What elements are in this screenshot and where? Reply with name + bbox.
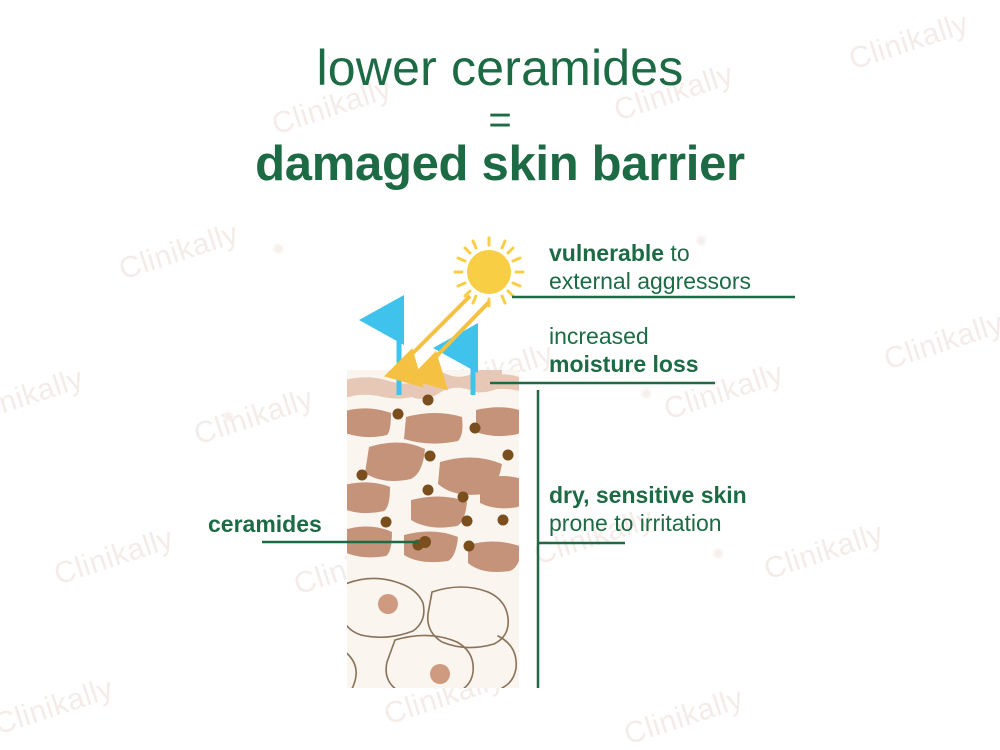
skin-cross-section-diagram [0, 0, 1000, 750]
callout-vulnerable-line-1: vulnerable to [549, 239, 751, 267]
callout-moisture-line-2: moisture loss [549, 350, 699, 378]
callout-vulnerable-light: to [664, 240, 690, 266]
infographic-canvas: Clinikally Clinikally Clinikally Clinika… [0, 0, 1000, 750]
uv-aggressor-arrows [401, 296, 489, 368]
callout-moisture-loss: increased moisture loss [549, 322, 699, 378]
callout-moisture-line-1: increased [549, 322, 699, 350]
callout-dry-line-2: prone to irritation [549, 509, 747, 537]
callout-dry-line-1: dry, sensitive skin [549, 481, 747, 509]
callout-dry-sensitive-skin: dry, sensitive skin prone to irritation [549, 481, 747, 537]
ceramide-pointer-dot [419, 536, 431, 548]
callout-vulnerable-bold: vulnerable [549, 240, 664, 266]
label-ceramides: ceramides [208, 511, 322, 538]
callout-vulnerable-line-2: external aggressors [549, 267, 751, 295]
uv-arrow-inner [425, 302, 489, 368]
callout-vulnerable-aggressors: vulnerable to external aggressors [549, 239, 751, 295]
